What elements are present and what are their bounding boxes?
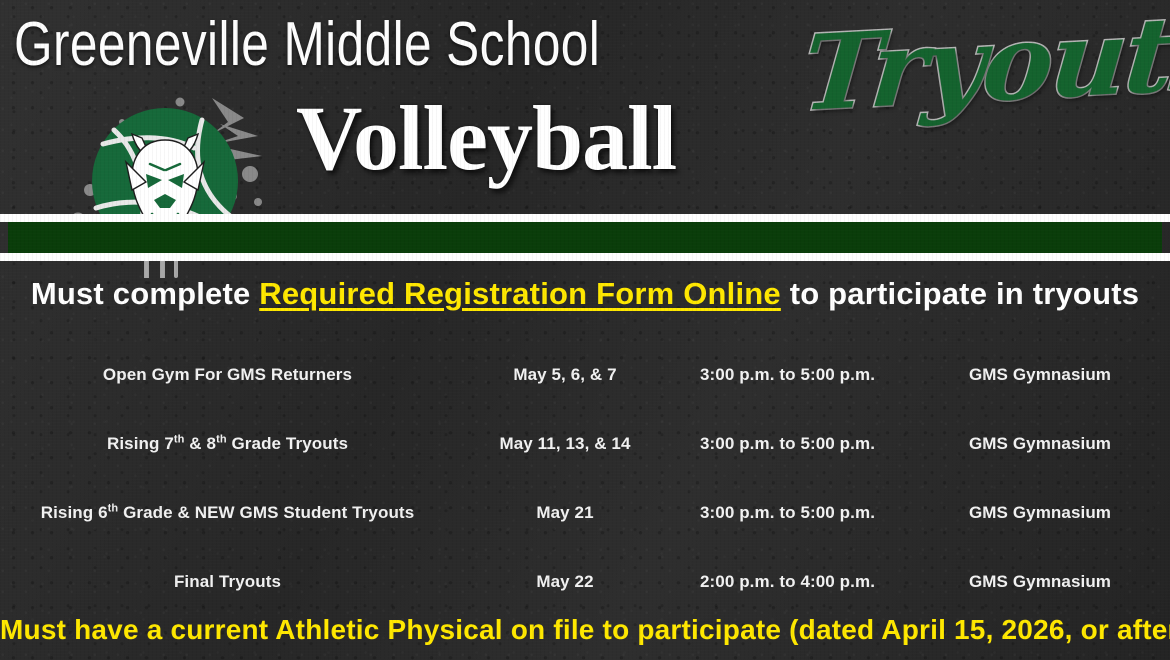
divider-stripe-bottom — [0, 253, 1170, 261]
schedule-time-cell: 2:00 p.m. to 4:00 p.m. — [665, 572, 910, 592]
schedule-date-cell: May 21 — [465, 503, 665, 523]
schedule-group-cell: Rising 6th Grade & NEW GMS Student Tryou… — [0, 503, 465, 523]
athletic-physical-note: Must have a current Athletic Physical on… — [0, 614, 1170, 646]
volleyball-tryouts-poster: Greeneville Middle School — [0, 0, 1170, 660]
registration-prefix: Must complete — [31, 276, 259, 311]
registration-form-link[interactable]: Required Registration Form Online — [259, 276, 781, 311]
table-row: Rising 7th & 8th Grade TryoutsMay 11, 13… — [0, 409, 1170, 478]
registration-suffix: to participate in tryouts — [781, 276, 1139, 311]
table-row: Final TryoutsMay 222:00 p.m. to 4:00 p.m… — [0, 547, 1170, 616]
table-row: Open Gym For GMS ReturnersMay 5, 6, & 73… — [0, 340, 1170, 409]
schedule-location-cell: GMS Gymnasium — [910, 503, 1170, 523]
schedule-time-cell: 3:00 p.m. to 5:00 p.m. — [665, 365, 910, 385]
divider-green-fill — [8, 222, 1162, 253]
schedule-group-cell: Open Gym For GMS Returners — [0, 365, 465, 385]
ordinal-suffix: th — [174, 433, 185, 445]
schedule-time-cell: 3:00 p.m. to 5:00 p.m. — [665, 434, 910, 454]
divider-stripe-top — [0, 214, 1170, 222]
sport-title: Volleyball — [296, 92, 676, 184]
tryouts-schedule-table: Open Gym For GMS ReturnersMay 5, 6, & 73… — [0, 340, 1170, 616]
schedule-date-cell: May 5, 6, & 7 — [465, 365, 665, 385]
table-row: Rising 6th Grade & NEW GMS Student Tryou… — [0, 478, 1170, 547]
schedule-date-cell: May 11, 13, & 14 — [465, 434, 665, 454]
green-divider-bar — [0, 214, 1170, 261]
schedule-location-cell: GMS Gymnasium — [910, 434, 1170, 454]
schedule-location-cell: GMS Gymnasium — [910, 365, 1170, 385]
schedule-group-cell: Final Tryouts — [0, 572, 465, 592]
ordinal-suffix: th — [216, 433, 227, 445]
tryouts-script-title: Tryouts — [799, 0, 1170, 126]
registration-requirement-line: Must complete Required Registration Form… — [0, 276, 1170, 312]
schedule-location-cell: GMS Gymnasium — [910, 572, 1170, 592]
schedule-date-cell: May 22 — [465, 572, 665, 592]
schedule-group-cell: Rising 7th & 8th Grade Tryouts — [0, 434, 465, 454]
page-title: Greeneville Middle School — [14, 14, 600, 76]
ordinal-suffix: th — [108, 502, 119, 514]
schedule-time-cell: 3:00 p.m. to 5:00 p.m. — [665, 503, 910, 523]
